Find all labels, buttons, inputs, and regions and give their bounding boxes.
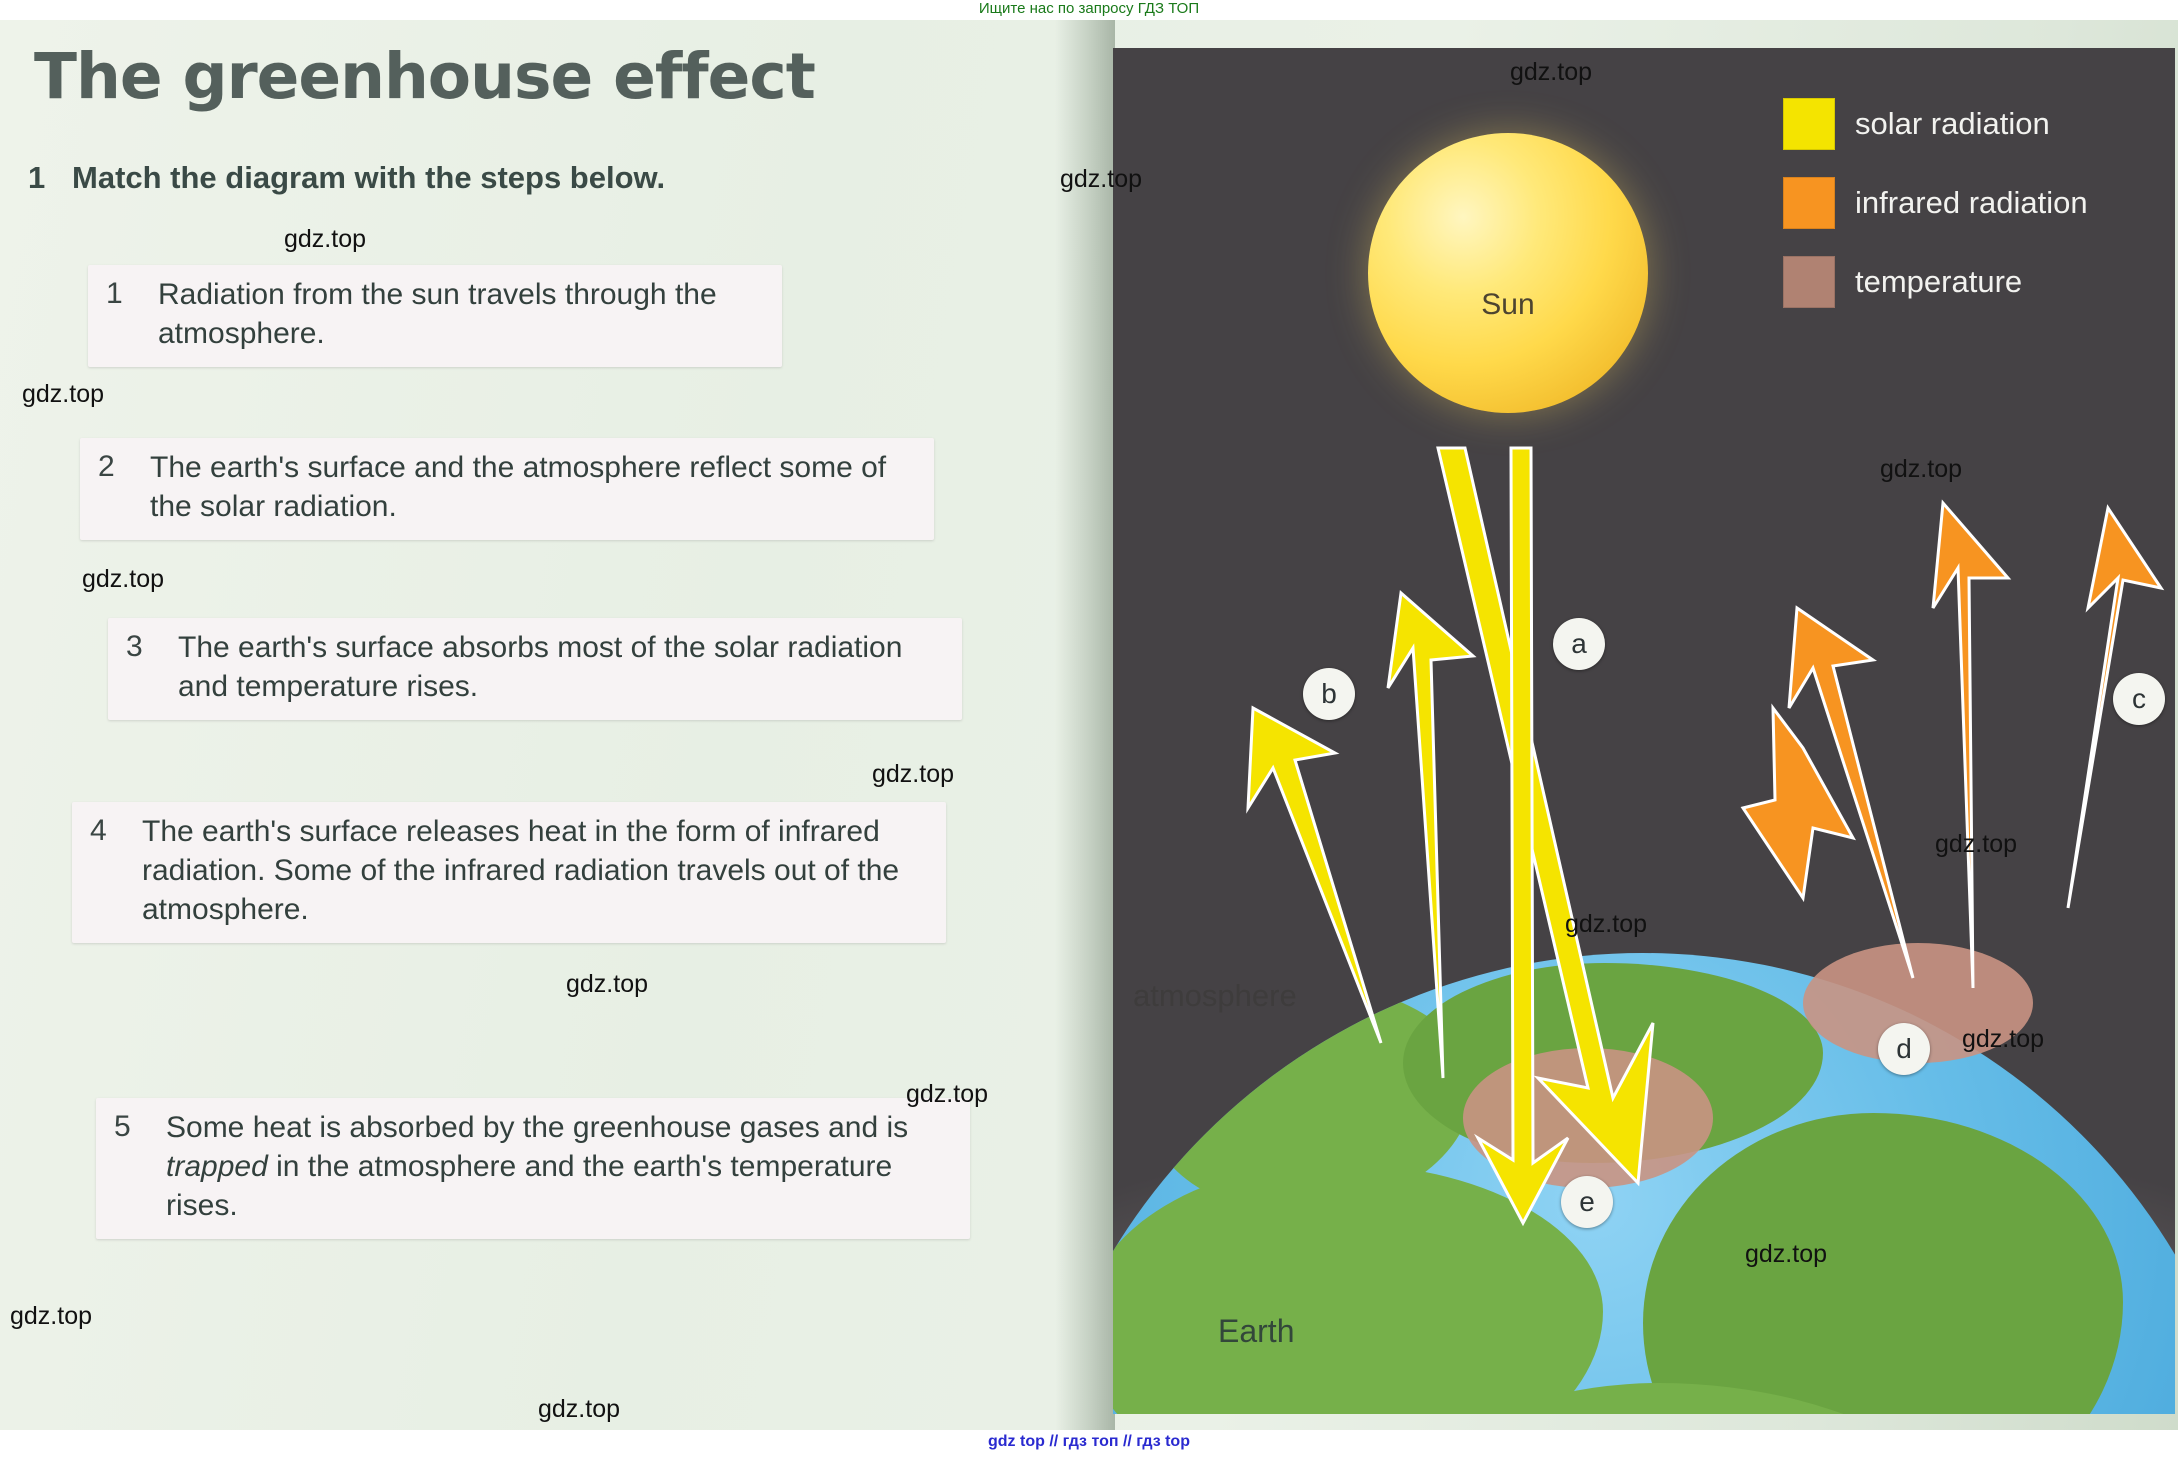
atmosphere-label: atmosphere bbox=[1133, 978, 1297, 1014]
step-text: Some heat is absorbed by the greenhouse … bbox=[166, 1108, 950, 1225]
step-number: 3 bbox=[126, 630, 143, 664]
step-text: The earth's surface absorbs most of the … bbox=[178, 628, 942, 706]
legend-label-infrared: infrared radiation bbox=[1855, 185, 2088, 221]
marker-c: c bbox=[2113, 673, 2165, 725]
legend: solar radiation infrared radiation tempe… bbox=[1783, 98, 2088, 335]
earth-label: Earth bbox=[1218, 1313, 1294, 1350]
infrared-arrow-c1 bbox=[1933, 503, 2008, 988]
watermark-top: Ищите нас по запросу ГДЗ ТОП bbox=[0, 0, 2178, 20]
marker-b: b bbox=[1303, 668, 1355, 720]
list-item: 4 The earth's surface releases heat in t… bbox=[72, 802, 946, 943]
legend-item-temperature: temperature bbox=[1783, 256, 2088, 308]
watermark: gdz.top bbox=[22, 380, 104, 409]
step-number: 4 bbox=[90, 814, 107, 848]
legend-swatch-infrared-icon bbox=[1783, 177, 1835, 229]
marker-a: a bbox=[1553, 618, 1605, 670]
watermark: gdz.top bbox=[906, 1080, 988, 1109]
marker-e: e bbox=[1561, 1176, 1613, 1228]
watermark: gdz.top bbox=[1962, 1025, 2044, 1054]
exercise-number: 1 bbox=[28, 160, 72, 196]
step-number: 2 bbox=[98, 450, 115, 484]
legend-item-infrared: infrared radiation bbox=[1783, 177, 2088, 229]
legend-label-solar: solar radiation bbox=[1855, 106, 2050, 142]
watermark: gdz.top bbox=[10, 1302, 92, 1331]
watermark: gdz.top bbox=[1880, 455, 1962, 484]
solar-arrow-reflected-b1 bbox=[1388, 593, 1473, 1078]
legend-swatch-solar-icon bbox=[1783, 98, 1835, 150]
step-text-emphasis: trapped bbox=[166, 1150, 268, 1183]
watermark: gdz.top bbox=[284, 225, 366, 254]
watermark: gdz.top bbox=[1565, 910, 1647, 939]
page-spine-shadow bbox=[1055, 20, 1115, 1430]
watermark: gdz.top bbox=[566, 970, 648, 999]
legend-swatch-temperature-icon bbox=[1783, 256, 1835, 308]
step-text-part2: in the atmosphere and the earth's temper… bbox=[166, 1150, 892, 1222]
step-number: 1 bbox=[106, 277, 123, 311]
step-text-part1: Some heat is absorbed by the greenhouse … bbox=[166, 1111, 908, 1144]
instruction-text: Match the diagram with the steps below. bbox=[72, 160, 665, 195]
step-text: The earth's surface and the atmosphere r… bbox=[150, 448, 914, 526]
legend-item-solar: solar radiation bbox=[1783, 98, 2088, 150]
left-text-column: The greenhouse effect 1Match the diagram… bbox=[0, 20, 1110, 1430]
greenhouse-effect-diagram: Sun atmosphere Earth a bbox=[1113, 48, 2175, 1414]
watermark: gdz.top bbox=[1060, 165, 1142, 194]
worksheet-page: The greenhouse effect 1Match the diagram… bbox=[0, 20, 2178, 1430]
list-item: 3 The earth's surface absorbs most of th… bbox=[108, 618, 962, 720]
solar-arrow-incoming-a bbox=[1438, 448, 1653, 1183]
watermark: gdz.top bbox=[1510, 58, 1592, 87]
watermark-bottom: gdz top // гдз топ // гдз top bbox=[0, 1433, 2178, 1455]
list-item: 5 Some heat is absorbed by the greenhous… bbox=[96, 1098, 970, 1239]
list-item: 2 The earth's surface and the atmosphere… bbox=[80, 438, 934, 540]
step-number: 5 bbox=[114, 1110, 131, 1144]
marker-d: d bbox=[1878, 1023, 1930, 1075]
page-title: The greenhouse effect bbox=[34, 40, 815, 113]
list-item: 1 Radiation from the sun travels through… bbox=[88, 265, 782, 367]
watermark: gdz.top bbox=[1935, 830, 2017, 859]
step-text: Radiation from the sun travels through t… bbox=[158, 275, 762, 353]
legend-label-temperature: temperature bbox=[1855, 264, 2022, 300]
watermark: gdz.top bbox=[1745, 1240, 1827, 1269]
watermark: gdz.top bbox=[872, 760, 954, 789]
step-text: The earth's surface releases heat in the… bbox=[142, 812, 926, 929]
watermark: gdz.top bbox=[82, 565, 164, 594]
exercise-instruction: 1Match the diagram with the steps below. bbox=[28, 160, 665, 196]
watermark: gdz.top bbox=[538, 1395, 620, 1424]
